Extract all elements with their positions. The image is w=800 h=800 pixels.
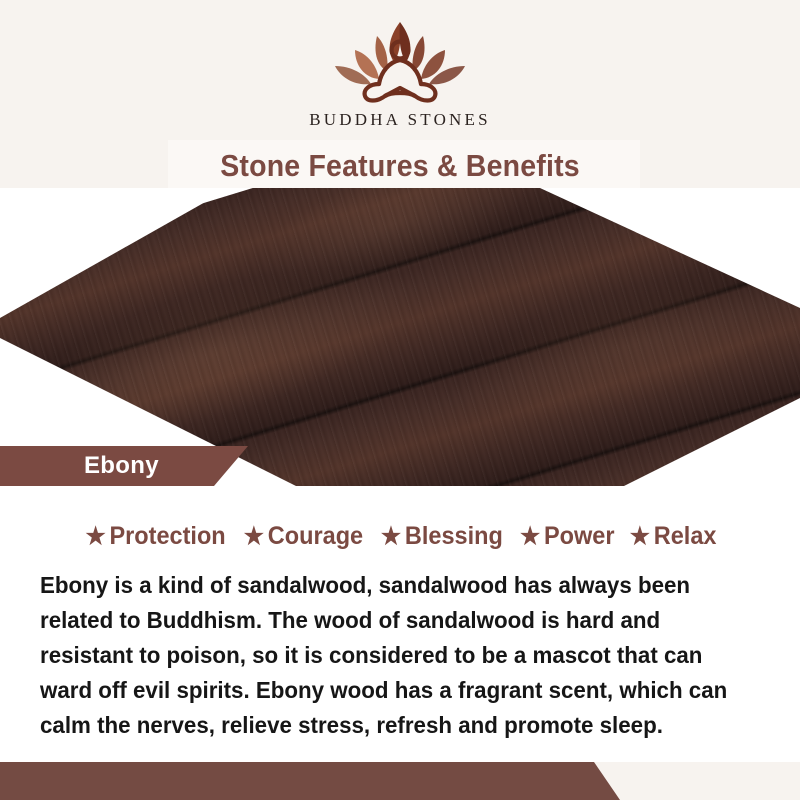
product-name: Ebony bbox=[84, 452, 159, 480]
frame-bottom-bar bbox=[0, 762, 620, 800]
star-icon: ★ bbox=[520, 523, 540, 550]
feature-item: ★Blessing bbox=[381, 522, 503, 551]
feature-label: Protection bbox=[109, 522, 225, 550]
feature-item: ★Relax bbox=[630, 522, 717, 551]
feature-list: ★Protection★Courage★Blessing★Power★Relax bbox=[0, 522, 800, 551]
description-text: Ebony is a kind of sandalwood, sandalwoo… bbox=[40, 568, 728, 743]
body-section: ★Protection★Courage★Blessing★Power★Relax… bbox=[0, 486, 800, 762]
feature-label: Courage bbox=[268, 522, 363, 550]
star-icon: ★ bbox=[381, 523, 401, 550]
star-icon: ★ bbox=[85, 523, 105, 550]
feature-label: Power bbox=[544, 522, 615, 550]
star-icon: ★ bbox=[630, 523, 650, 550]
product-photo bbox=[0, 188, 800, 488]
brand-name: BUDDHA STONES bbox=[0, 110, 800, 130]
brand-logo: BUDDHA STONES bbox=[0, 14, 800, 130]
header: BUDDHA STONES Stone Features & Benefits bbox=[0, 0, 800, 200]
feature-label: Blessing bbox=[405, 522, 503, 550]
feature-item: ★Power bbox=[520, 522, 615, 551]
page-title: Stone Features & Benefits bbox=[32, 148, 768, 184]
feature-item: ★Courage bbox=[244, 522, 363, 551]
infographic-card: BUDDHA STONES Stone Features & Benefits … bbox=[0, 0, 800, 800]
product-name-banner: Ebony bbox=[0, 446, 248, 486]
lotus-meditation-icon bbox=[315, 14, 485, 106]
feature-item: ★Protection bbox=[85, 522, 225, 551]
feature-label: Relax bbox=[654, 522, 717, 550]
star-icon: ★ bbox=[244, 523, 264, 550]
